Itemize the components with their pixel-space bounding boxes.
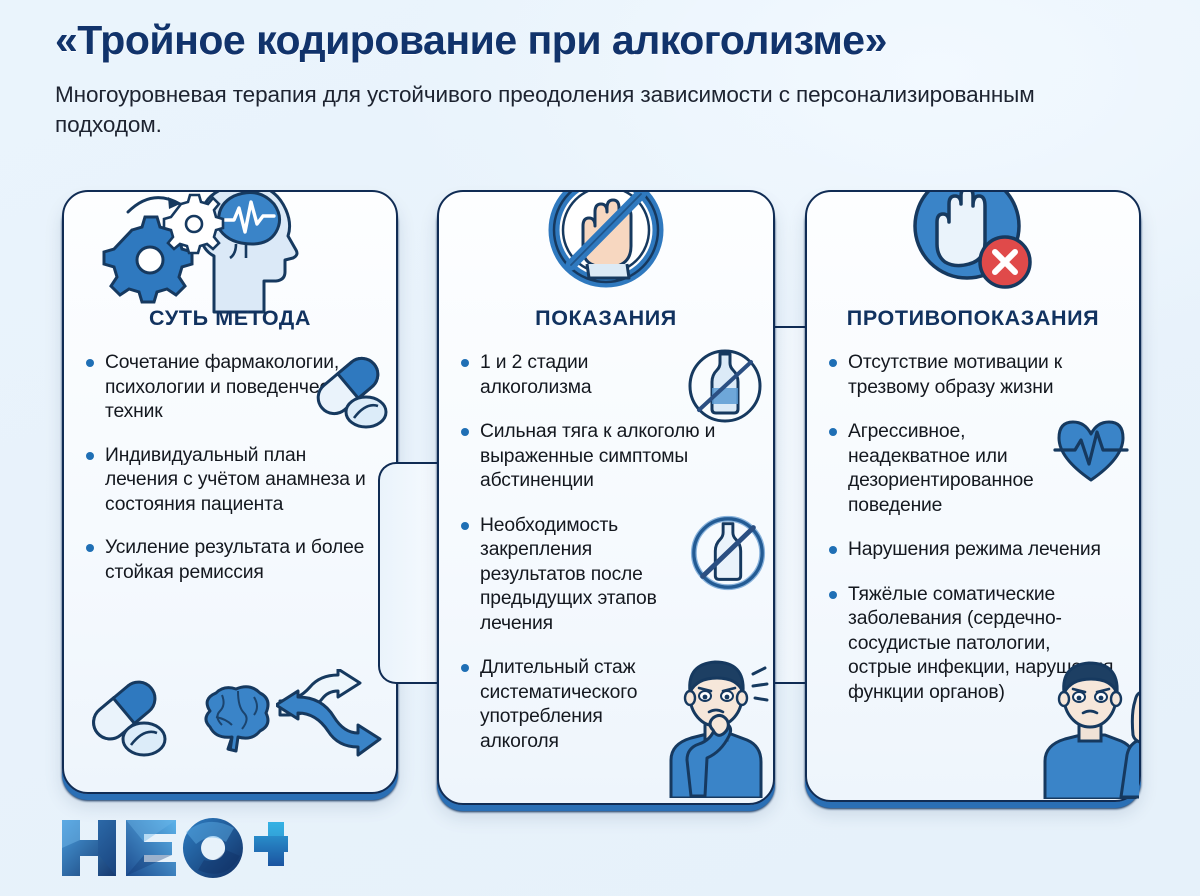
card-method[interactable]: СУТЬ МЕТОДА Сочетание фармакологии, псих… [62,190,398,794]
no-bottle-icon [687,512,769,599]
card-indications[interactable]: ПОКАЗАНИЯ 1 и 2 стадии алкоголизма Сильн… [437,190,775,805]
card-contraindications[interactable]: ПРОТИВОПОКАЗАНИЯ Отсутствие мотивации к … [805,190,1141,802]
list-item: Индивидуальный план лечения с учётом ана… [86,444,374,518]
card-title-contraindications: ПРОТИВОПОКАЗАНИЯ [829,306,1117,331]
page-title: «Тройное кодирование при алкоголизме» [55,18,1200,64]
page-header: «Тройное кодирование при алкоголизме» Мн… [0,0,1200,139]
raised-hand-man-icon [1037,639,1139,800]
worried-man-icon [657,648,773,803]
page-subtitle: Многоуровневая терапия для устойчивого п… [55,80,1135,139]
gears-brain-head-icon [86,192,374,310]
list-item: Отсутствие мотивации к трезвому образу ж… [829,351,1117,400]
capsule-pill-icon [308,352,394,439]
card-title-indications: ПОКАЗАНИЯ [461,306,751,331]
shuffle-arrows-icon [276,669,384,766]
list-item: Усиление результата и более стойкая реми… [86,536,374,585]
heartbeat-icon [1053,414,1129,491]
capsule-pill-icon [84,675,176,766]
list-item: Нарушения режима лечения [829,538,1117,563]
stop-hand-cross-icon [829,192,1117,310]
card-connector-1 [378,462,444,684]
brain-icon [192,681,276,762]
no-alcohol-hand-icon [461,192,751,310]
no-bottle-icon [683,344,767,433]
neo-plus-logo[interactable] [58,812,288,884]
cards-row: СУТЬ МЕТОДА Сочетание фармакологии, псих… [0,190,1200,820]
